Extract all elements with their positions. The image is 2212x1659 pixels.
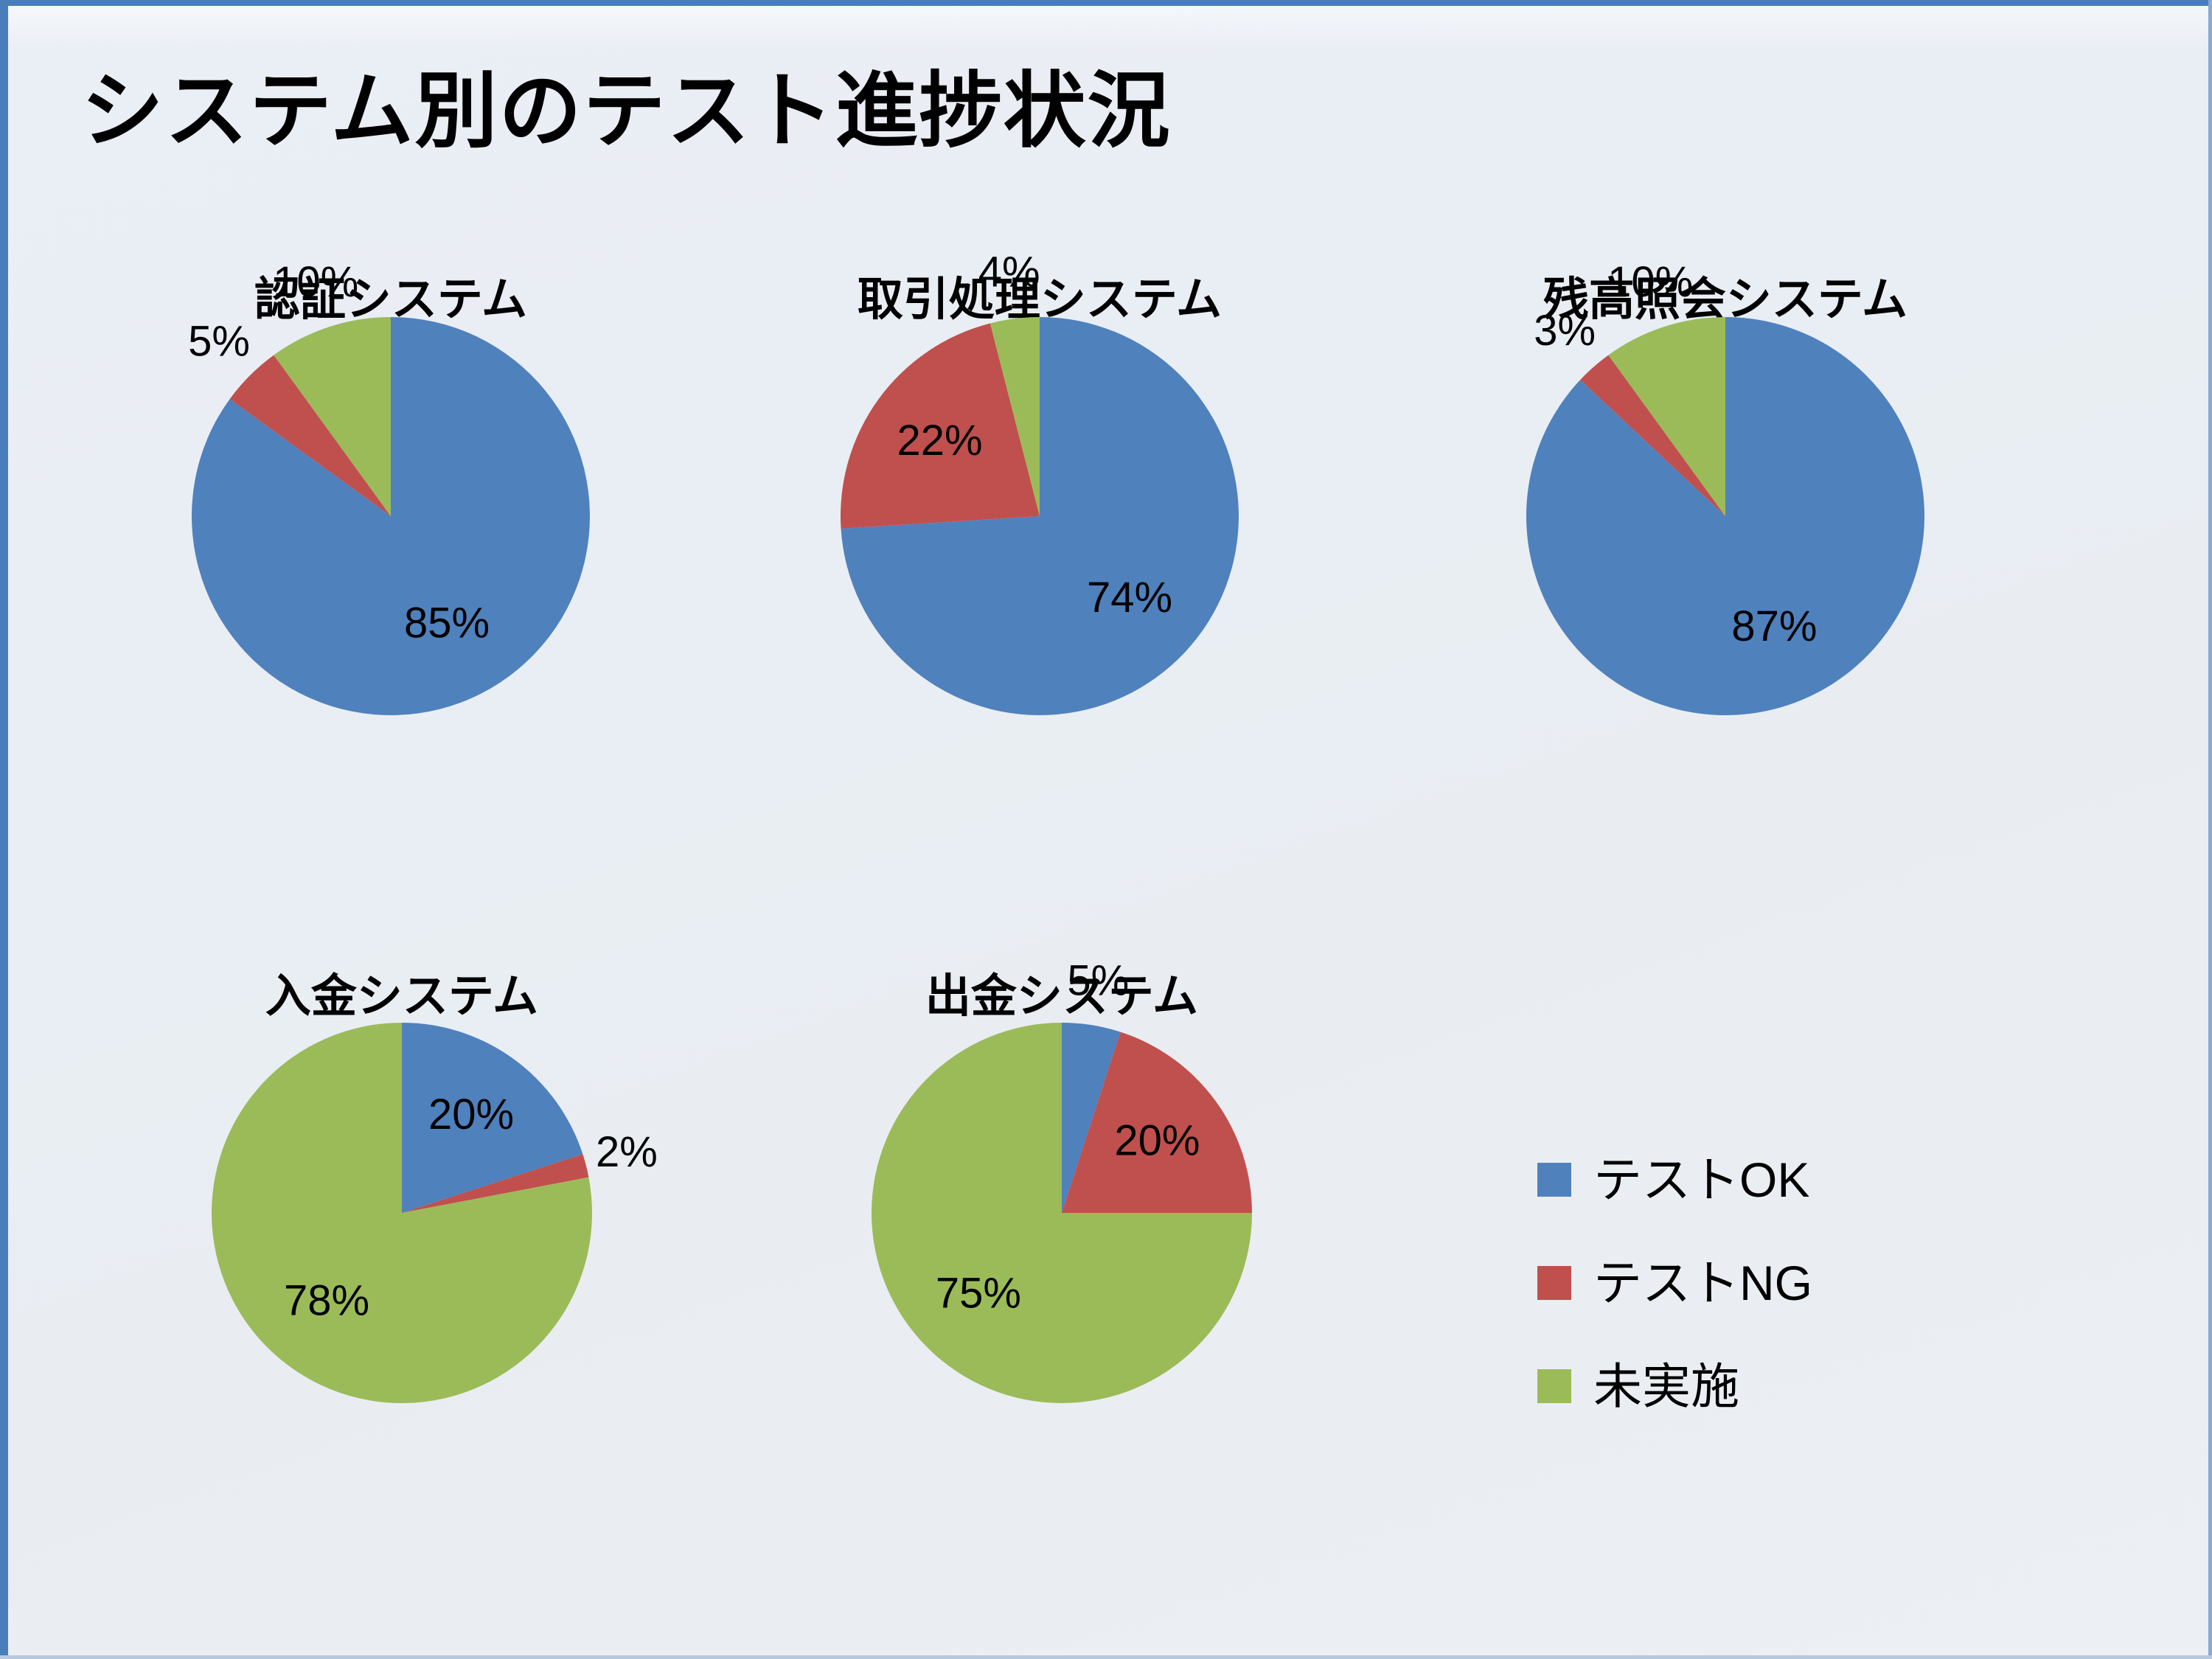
pie-svg: 20%2%78%: [181, 1003, 623, 1475]
slide-border-top: [0, 0, 2212, 6]
slide-border-right: [2208, 0, 2212, 1659]
pie-svg: 87%3%10%: [1504, 306, 1947, 778]
pie-slice-label: 3%: [1534, 307, 1596, 355]
slide-border-left: [0, 0, 8, 1659]
pie-slice-label: 20%: [428, 1091, 514, 1138]
pie-slice-label: 74%: [1087, 574, 1172, 622]
chart-legend: テストOKテストNG未実施: [1537, 1128, 1812, 1438]
pie-slice-label: 2%: [596, 1128, 658, 1176]
pie-svg: 85%5%10%: [170, 306, 612, 778]
legend-item[interactable]: テストOK: [1537, 1128, 1812, 1231]
pie-slice-label: 85%: [404, 599, 490, 647]
pie-chart-plot-area: 87%3%10%: [1504, 306, 1947, 778]
legend-item[interactable]: テストNG: [1537, 1231, 1812, 1335]
legend-item-label: テストOK: [1593, 1155, 1809, 1204]
pie-slice-label: 22%: [897, 417, 983, 465]
pie-chart-plot-area: 20%2%78%: [181, 1003, 623, 1475]
pie-slice-label: 20%: [1114, 1116, 1200, 1164]
slide-border-bottom: [0, 1655, 2212, 1659]
legend-swatch-test-ng: [1537, 1266, 1571, 1300]
pie-slice-label: 5%: [188, 317, 250, 365]
slide-canvas: システム別のテスト進捗状況 認証システム85%5%10%取引処理システム74%2…: [0, 0, 2212, 1659]
legend-item-label: テストNG: [1593, 1259, 1812, 1307]
pie-chart-plot-area: 5%20%75%: [841, 1003, 1283, 1475]
page-title: システム別のテスト進捗状況: [81, 70, 1172, 153]
pie-svg: 74%22%4%: [818, 306, 1261, 778]
legend-item[interactable]: 未実施: [1537, 1335, 1812, 1438]
pie-slice-label: 78%: [284, 1277, 369, 1325]
pie-slice-label: 87%: [1731, 602, 1817, 650]
pie-slice-label: 10%: [273, 258, 358, 306]
legend-swatch-test-ok: [1537, 1163, 1571, 1197]
pie-slice-label: 10%: [1607, 258, 1693, 306]
pie-slice-label: 4%: [978, 248, 1040, 296]
legend-swatch-not-run: [1537, 1369, 1571, 1403]
pie-chart-plot-area: 74%22%4%: [818, 306, 1261, 778]
legend-item-label: 未実施: [1593, 1362, 1739, 1411]
pie-svg: 5%20%75%: [841, 1003, 1283, 1475]
pie-slice-label: 5%: [1067, 956, 1129, 1004]
pie-slice-label: 75%: [936, 1269, 1021, 1317]
pie-chart-plot-area: 85%5%10%: [170, 306, 612, 778]
